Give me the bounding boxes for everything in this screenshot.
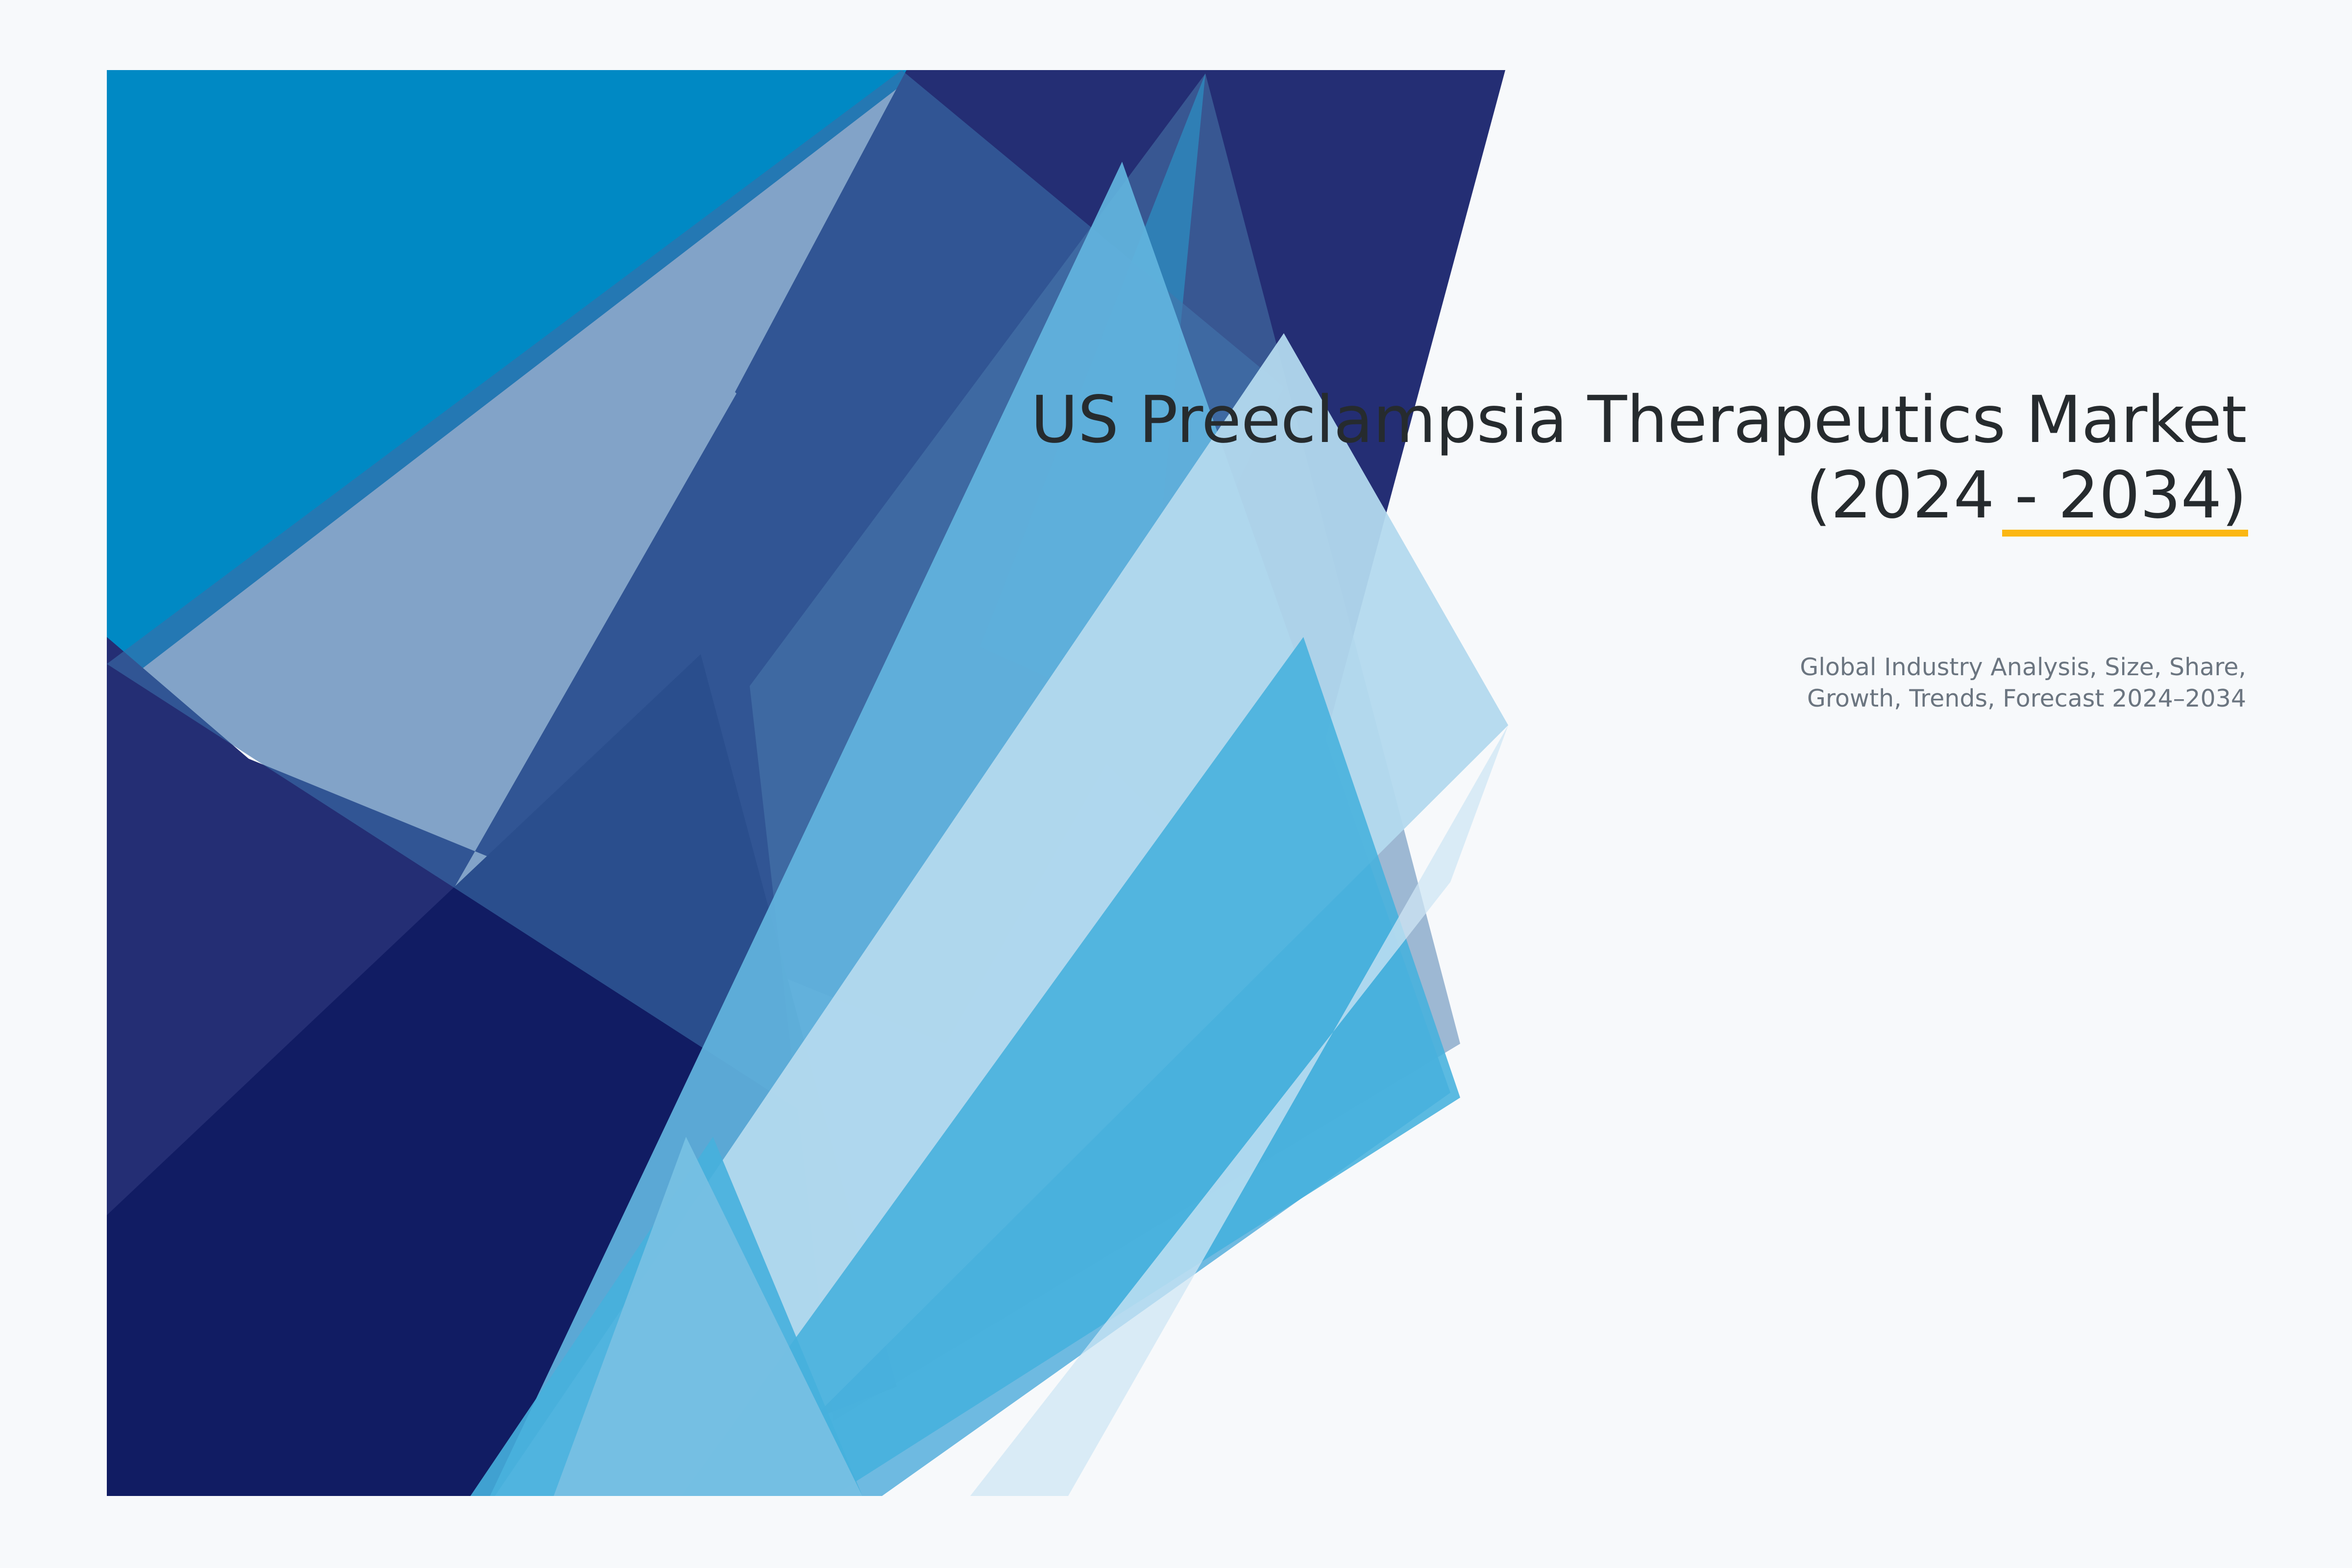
abstract-geometric-cover-graphic: [0, 0, 2352, 1568]
page-title: US Preeclampsia Therapeutics Market (202…: [777, 382, 2247, 534]
page-subtitle: Global Industry Analysis, Size, Share, G…: [1462, 652, 2246, 714]
title-block: US Preeclampsia Therapeutics Market (202…: [777, 382, 2247, 534]
title-accent-underline: [2002, 530, 2248, 537]
report-cover-page: US Preeclampsia Therapeutics Market (202…: [0, 0, 2352, 1568]
subtitle-block: Global Industry Analysis, Size, Share, G…: [1462, 652, 2246, 714]
